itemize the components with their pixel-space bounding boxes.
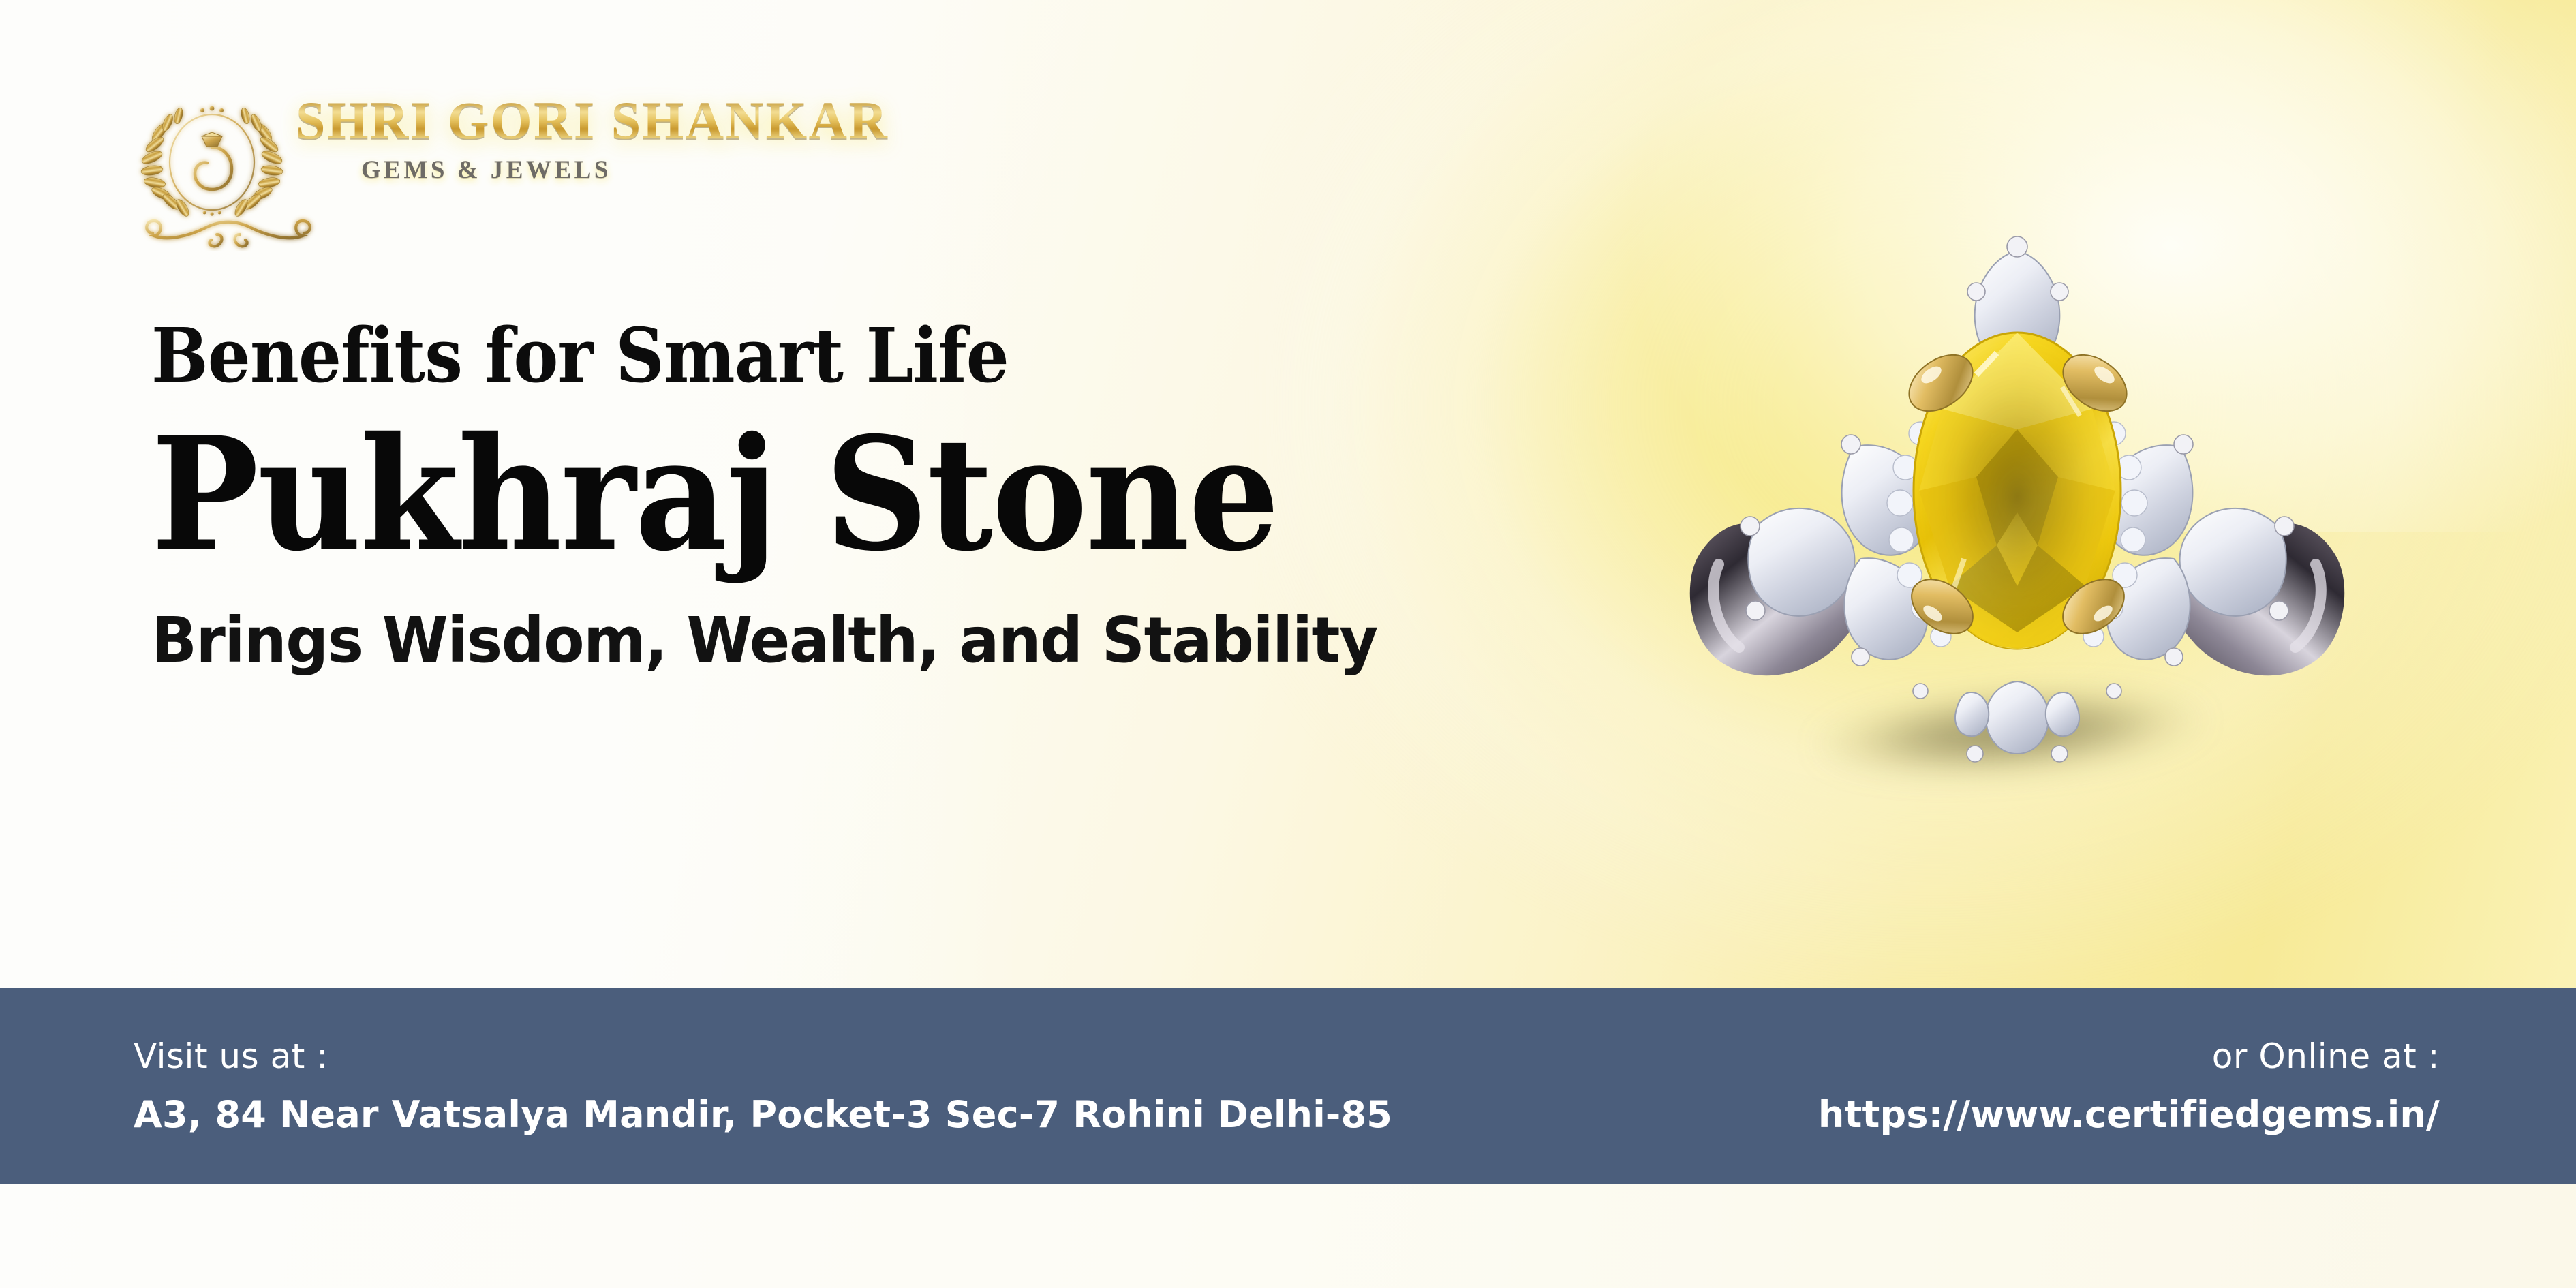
bottom-strip	[0, 1184, 2576, 1288]
product-image	[1656, 204, 2378, 804]
brand-name: SHRI GORI SHANKAR	[296, 94, 889, 147]
promotional-banner: SHRI GORI SHANKAR GEMS & JEWELS Benefits…	[0, 0, 2576, 1288]
brand-logo[interactable]: SHRI GORI SHANKAR GEMS & JEWELS	[134, 82, 829, 232]
headline-subtitle: Brings Wisdom, Wealth, and Stability	[151, 608, 1649, 674]
ornamental-flourish-icon	[140, 203, 318, 251]
headline-block: Benefits for Smart Life Pukhraj Stone Br…	[151, 318, 1719, 673]
online-at-label: or Online at :	[2212, 1036, 2440, 1077]
footer-online-block: or Online at : https://www.certifiedgems…	[1818, 1036, 2440, 1137]
headline-title: Pukhraj Stone	[151, 418, 1593, 570]
headline-kicker: Benefits for Smart Life	[151, 318, 1562, 394]
store-address: A3, 84 Near Vatsalya Mandir, Pocket-3 Se…	[134, 1093, 1392, 1137]
website-url[interactable]: https://www.certifiedgems.in/	[1818, 1093, 2440, 1137]
brand-logo-text: SHRI GORI SHANKAR GEMS & JEWELS	[296, 94, 889, 185]
visit-us-label: Visit us at :	[134, 1036, 1392, 1077]
brand-tagline: GEMS & JEWELS	[361, 155, 889, 185]
footer-address-block: Visit us at : A3, 84 Near Vatsalya Mandi…	[134, 1036, 1392, 1137]
yellow-sapphire-ring-icon	[1656, 204, 2378, 804]
footer-contact-bar: Visit us at : A3, 84 Near Vatsalya Mandi…	[0, 988, 2576, 1184]
